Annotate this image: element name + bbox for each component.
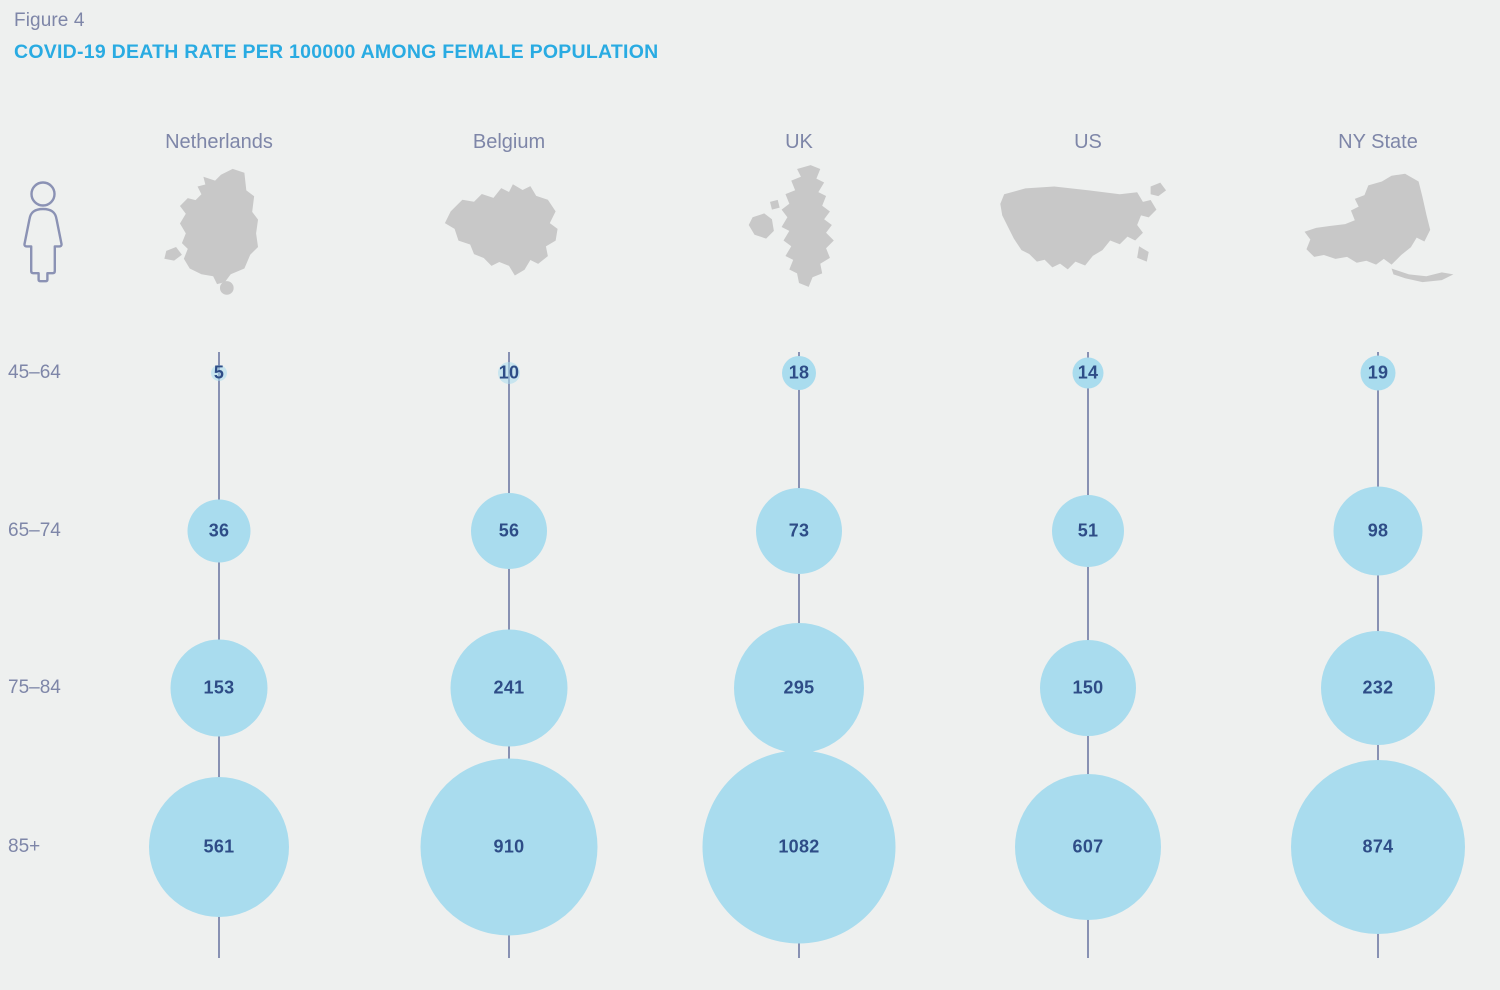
bubble-value-us-75-84: 150 (1073, 678, 1104, 699)
bubble-value-uk-65-74: 73 (789, 521, 810, 542)
bubble-value-uk-85-plus: 1082 (778, 837, 819, 858)
ny-state-map-icon (1283, 163, 1473, 288)
bubble-value-netherlands-45-64: 5 (214, 363, 224, 384)
bubble-value-ny-state-65-74: 98 (1368, 521, 1389, 542)
bubble-value-ny-state-75-84: 232 (1363, 678, 1394, 699)
bubble-value-belgium-65-74: 56 (499, 521, 520, 542)
column-header-ny-state: NY State (1338, 131, 1418, 154)
bubble-value-ny-state-85-plus: 874 (1363, 837, 1394, 858)
row-label-45-64: 45–64 (8, 362, 61, 384)
bubble-value-netherlands-75-84: 153 (204, 678, 235, 699)
bubble-value-uk-75-84: 295 (784, 678, 815, 699)
bubble-value-us-45-64: 14 (1078, 363, 1099, 384)
row-label-65-74: 65–74 (8, 520, 61, 542)
bubble-value-us-65-74: 51 (1078, 521, 1099, 542)
bubble-value-uk-45-64: 18 (789, 363, 810, 384)
bubble-value-ny-state-45-64: 19 (1368, 363, 1389, 384)
bubble-value-netherlands-65-74: 36 (209, 521, 230, 542)
column-header-belgium: Belgium (473, 131, 545, 154)
bubble-value-belgium-75-84: 241 (494, 678, 525, 699)
row-label-75-84: 75–84 (8, 677, 61, 699)
bubble-chart-plot: 45–64 65–74 75–84 85+ Netherlands 5 36 1… (0, 0, 1500, 990)
column-header-netherlands: Netherlands (165, 131, 273, 154)
row-label-85-plus: 85+ (8, 836, 40, 858)
column-header-uk: UK (785, 131, 813, 154)
belgium-map-icon (414, 163, 604, 288)
bubble-value-belgium-85-plus: 910 (494, 837, 525, 858)
uk-map-icon (704, 163, 894, 288)
bubble-value-belgium-45-64: 10 (499, 363, 520, 384)
column-header-us: US (1074, 131, 1102, 154)
netherlands-map-icon (124, 163, 314, 288)
us-map-icon (993, 163, 1183, 288)
bubble-value-us-85-plus: 607 (1073, 837, 1104, 858)
bubble-value-netherlands-85-plus: 561 (204, 837, 235, 858)
